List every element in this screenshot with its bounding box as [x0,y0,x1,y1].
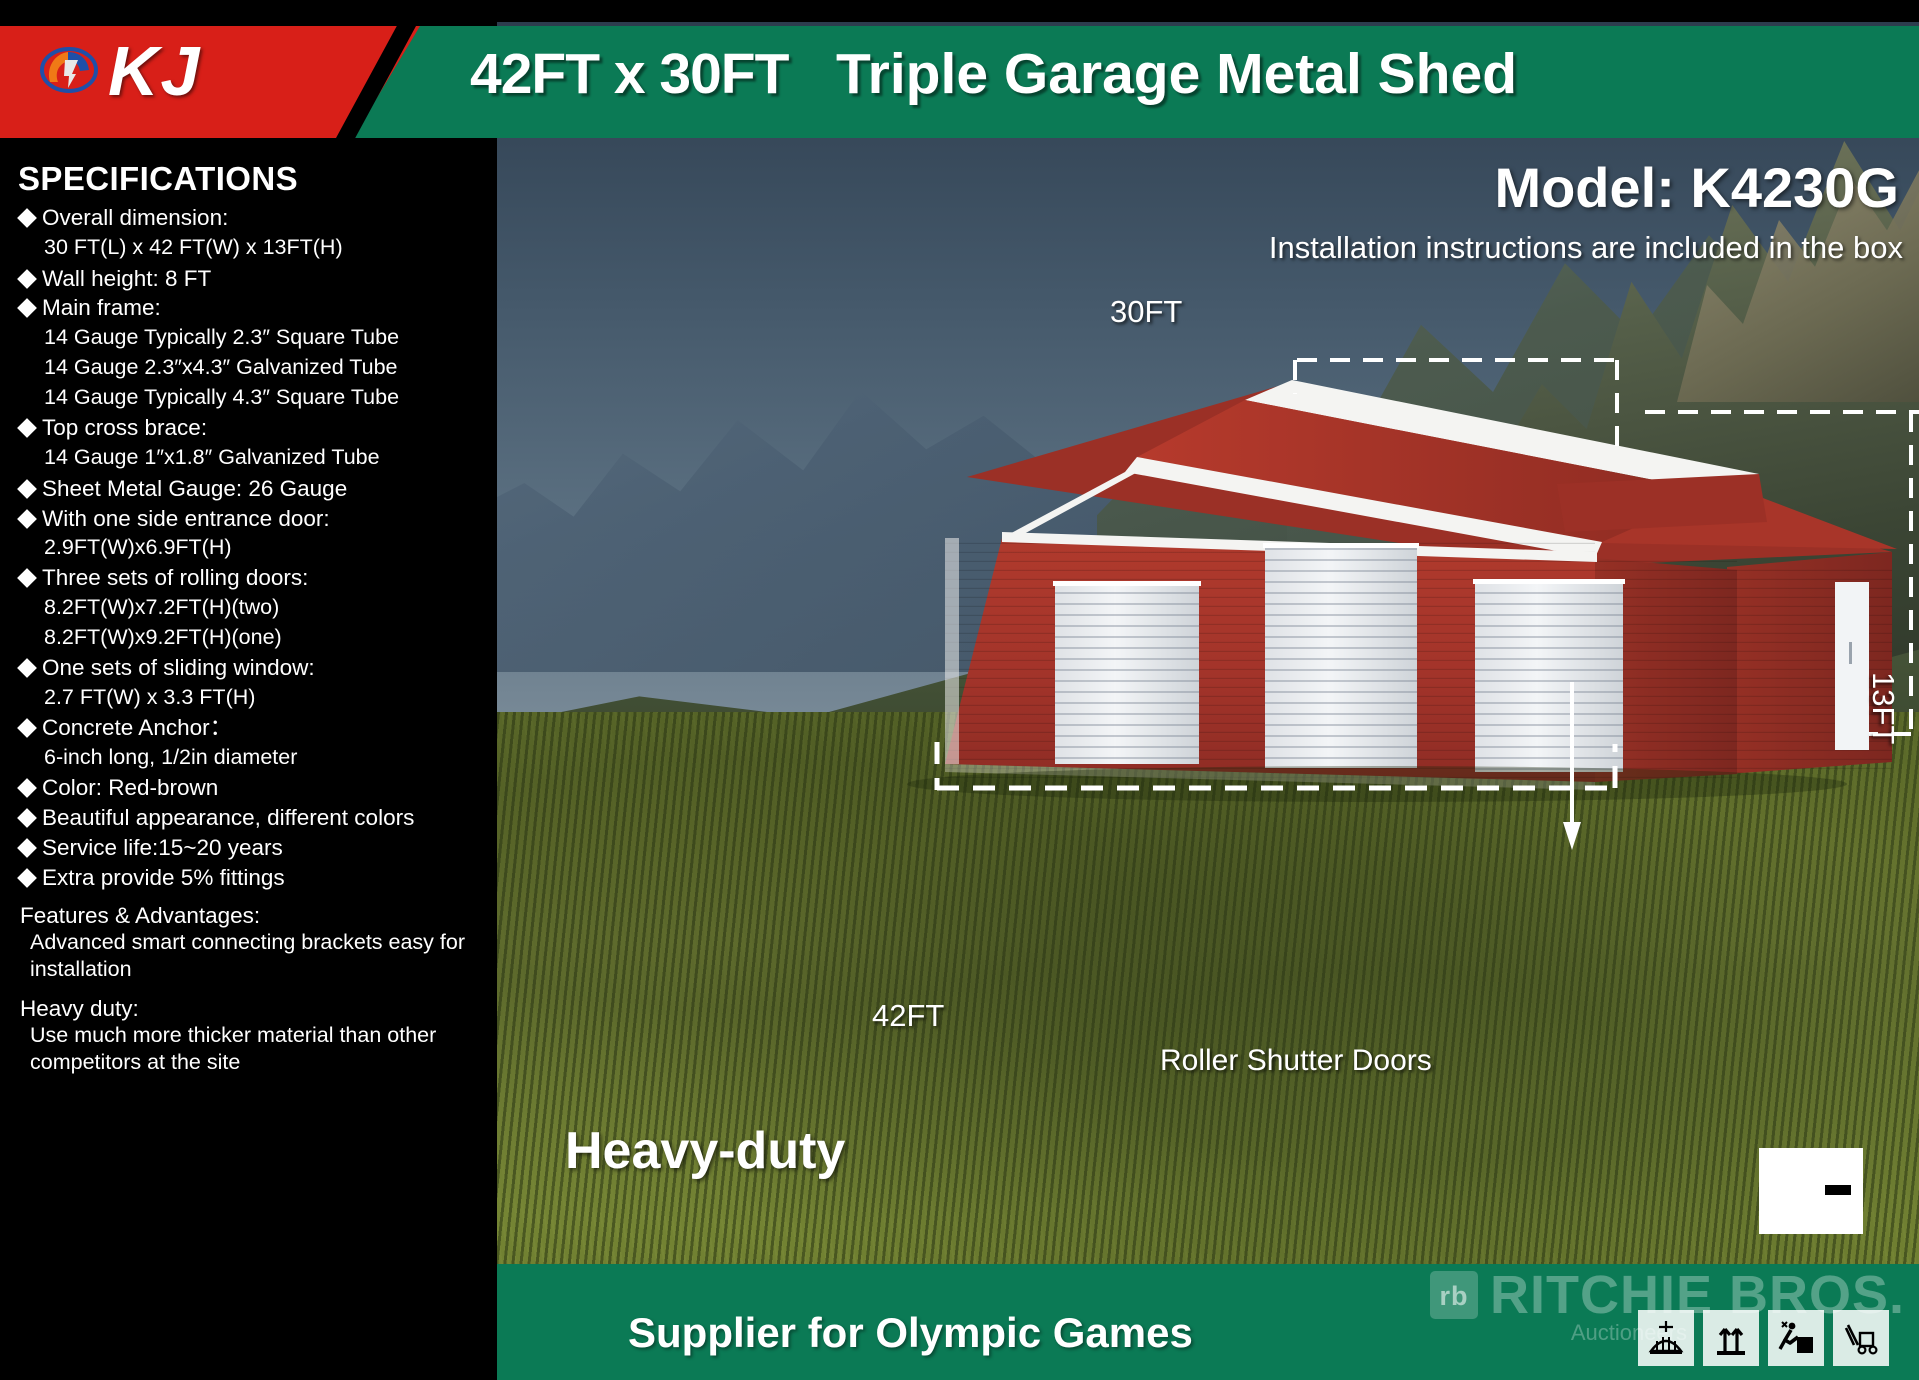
spec-item: Top cross brace: [18,414,485,442]
diamond-bullet-icon [17,269,37,289]
kj-swirl-logo-icon [38,44,100,96]
callout-height-side: 13FT [1868,672,1899,744]
product-poster: KJ 42FT x 30FT Triple Garage Metal Shed … [0,0,1919,1380]
spec-item: Wall height: 8 FT [18,265,485,293]
no-stepping-icon [1768,1310,1824,1366]
rolling-door-center [1263,543,1419,768]
spec-label: Concrete Anchor： [42,714,232,742]
spec-sub: 14 Gauge Typically 4.3″ Square Tube [44,384,485,412]
crane-load-icon [1638,1310,1694,1366]
diamond-bullet-icon [17,838,37,858]
spec-label: Color: Red-brown [42,774,218,802]
ce-mark-icon [1759,1148,1863,1234]
spec-sub: 14 Gauge Typically 2.3″ Square Tube [44,324,485,352]
brand-name: KJ [108,36,201,106]
spec-sub: 8.2FT(W)x9.2FT(H)(one) [44,624,485,652]
spec-item: Color: Red-brown [18,774,485,802]
forklift-icon [1833,1310,1889,1366]
spec-sub: 2.7 FT(W) x 3.3 FT(H) [44,684,485,712]
spec-label: Service life:15~20 years [42,834,283,862]
spec-item: Concrete Anchor： [18,714,485,742]
diamond-bullet-icon [17,509,37,529]
specifications-heading: SPECIFICATIONS [18,160,485,198]
rb-logo-icon: rb [1428,1269,1480,1321]
spec-label: One sets of sliding window: [42,654,315,682]
heavy-duty-heading: Heavy duty: [20,996,485,1022]
diamond-bullet-icon [17,718,37,738]
model-label: Model: K4230G [1494,160,1899,216]
spec-label: Overall dimension: [42,204,228,232]
callout-width-front: 42FT [872,1000,944,1031]
spec-sub: 8.2FT(W)x7.2FT(H)(two) [44,594,485,622]
spec-label: Extra provide 5% fittings [42,864,285,892]
callout-roller-doors: Roller Shutter Doors [1160,1046,1432,1076]
spec-label: Wall height: 8 FT [42,265,211,293]
specifications-panel: SPECIFICATIONS Overall dimension: 30 FT(… [0,138,497,1264]
footer-black-block [0,1264,497,1380]
footer-tagline: Supplier for Olympic Games [628,1312,1193,1354]
svg-text:rb: rb [1439,1281,1468,1311]
spec-label: Main frame: [42,294,161,322]
heavy-duty-badge: Heavy-duty [565,1125,845,1177]
diamond-bullet-icon [17,569,37,589]
header-product-title: Triple Garage Metal Shed [836,42,1517,106]
spec-sub: 14 Gauge 1″x1.8″ Galvanized Tube [44,444,485,471]
diamond-bullet-icon [17,208,37,228]
this-way-up-icon [1703,1310,1759,1366]
spec-sub: 14 Gauge 2.3″x4.3″ Galvanized Tube [44,354,485,382]
spec-item: With one side entrance door: [18,505,485,533]
features-heading: Features & Advantages: [20,903,485,929]
spec-label: With one side entrance door: [42,505,330,533]
header-dimensions: 42FT x 30FT [470,42,788,106]
diamond-bullet-icon [17,778,37,798]
spec-item: Main frame: [18,294,485,322]
spec-item: One sets of sliding window: [18,654,485,682]
features-body: Advanced smart connecting brackets easy … [30,929,485,983]
spec-label: Beautiful appearance, different colors [42,804,414,832]
diamond-bullet-icon [17,658,37,678]
spec-item: Extra provide 5% fittings [18,864,485,892]
spec-item: Sheet Metal Gauge: 26 Gauge [18,475,485,503]
spec-item: Service life:15~20 years [18,834,485,862]
heavy-duty-body: Use much more thicker material than othe… [30,1022,485,1076]
side-entrance-door [1835,582,1869,750]
diamond-bullet-icon [17,299,37,319]
spec-label: Three sets of rolling doors: [42,564,308,592]
spec-label: Top cross brace: [42,414,207,442]
rolling-door-right [1473,579,1625,772]
spec-sub: 6-inch long, 1/2in diameter [44,744,485,772]
spec-item: Overall dimension: [18,204,485,232]
spec-sub: 30 FT(L) x 42 FT(W) x 13FT(H) [44,234,485,261]
diamond-bullet-icon [17,418,37,438]
spec-label: Sheet Metal Gauge: 26 Gauge [42,475,347,503]
spec-sub: 2.9FT(W)x6.9FT(H) [44,534,485,562]
diamond-bullet-icon [17,479,37,499]
rolling-door-left [1053,581,1201,764]
installation-note: Installation instructions are included i… [1269,232,1903,263]
handling-icons [1638,1310,1889,1366]
diamond-bullet-icon [17,868,37,888]
diamond-bullet-icon [17,808,37,828]
spec-item: Three sets of rolling doors: [18,564,485,592]
spec-item: Beautiful appearance, different colors [18,804,485,832]
callout-width-top: 30FT [1110,296,1182,327]
header-title: 42FT x 30FT Triple Garage Metal Shed [470,46,1517,103]
